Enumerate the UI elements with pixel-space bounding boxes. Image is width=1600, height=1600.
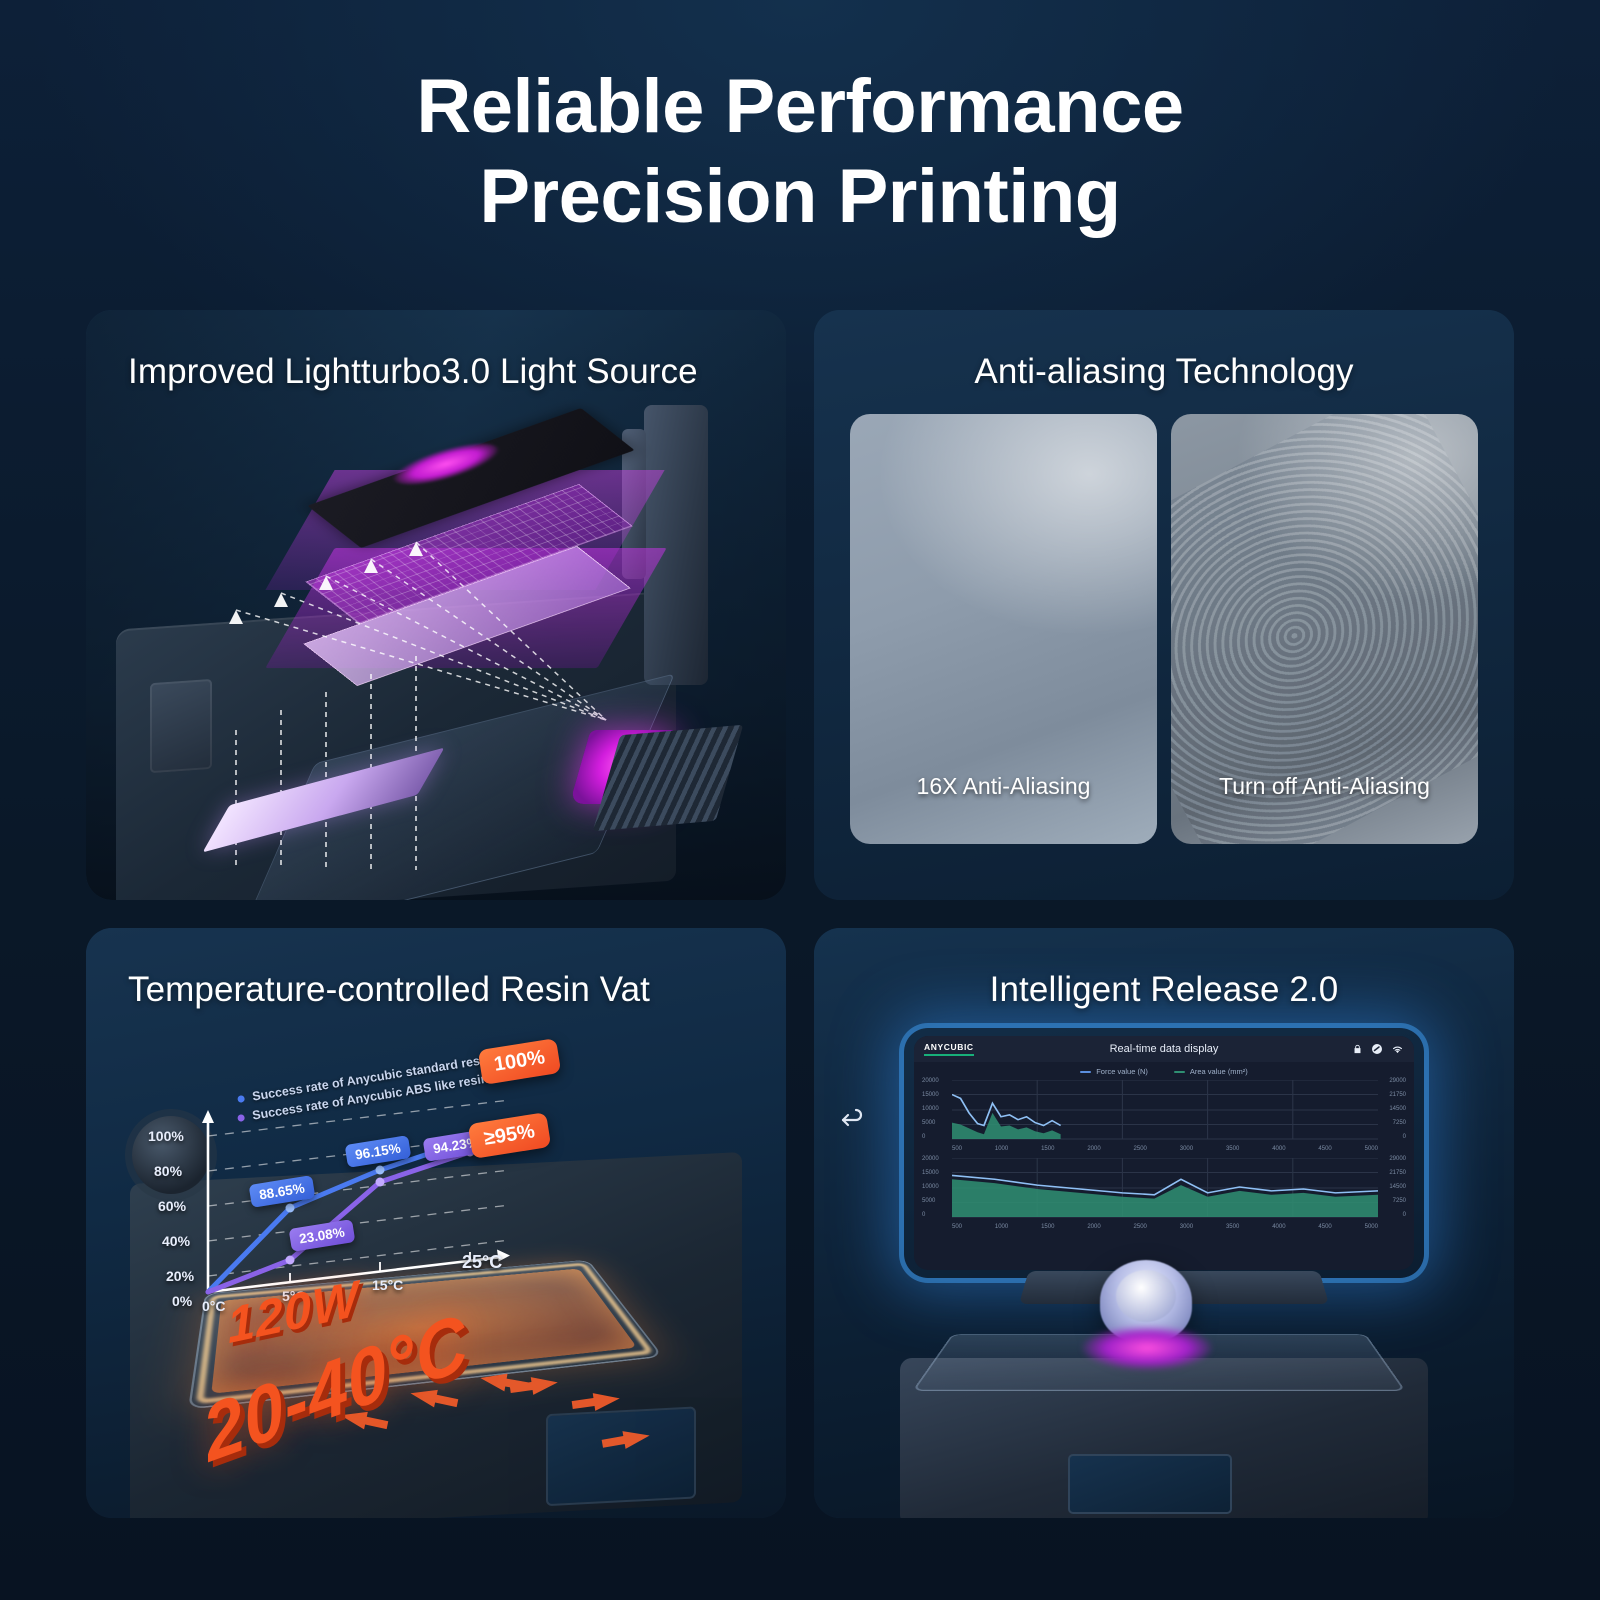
- screen-status-icons: [1352, 1043, 1404, 1055]
- lower-chart-left-axis: 20000 15000 10000 5000 0: [922, 1156, 939, 1218]
- card-light-source: Improved Lightturbo3.0 Light Source: [86, 310, 786, 900]
- upper-chart-right-axis: 29000 21750 14500 7250 0: [1389, 1078, 1406, 1140]
- ytick: 15000: [922, 1092, 939, 1098]
- light-source-scene: [86, 310, 786, 900]
- uv-exposure-glow: [1082, 1326, 1212, 1370]
- ytick: 0: [1403, 1212, 1406, 1218]
- xtick: 4000: [1272, 1146, 1285, 1152]
- anti-aliasing-comparison: 16X Anti-Aliasing Turn off Anti-Aliasing: [850, 414, 1478, 844]
- xtick: 2500: [1134, 1224, 1147, 1230]
- xtick: 2000: [1087, 1146, 1100, 1152]
- xtick: 1000: [995, 1224, 1008, 1230]
- xtick: 3500: [1226, 1146, 1239, 1152]
- ytick: 20000: [922, 1078, 939, 1084]
- sample-16x-anti-aliasing: 16X Anti-Aliasing: [850, 414, 1157, 844]
- upper-chart-x-axis: 500 1000 1500 2000 2500 3000 3500 4000 4…: [952, 1146, 1378, 1152]
- xtick: 1000: [995, 1146, 1008, 1152]
- ytick-60: 60%: [158, 1198, 186, 1214]
- xtick: 3000: [1180, 1224, 1193, 1230]
- ytick: 0: [922, 1134, 925, 1140]
- lower-chart-right-axis: 29000 21750 14500 7250 0: [1389, 1156, 1406, 1218]
- resin-success-rate-chart: Success rate of Anycubic standard resin …: [150, 1040, 570, 1320]
- ytick-40: 40%: [162, 1233, 190, 1249]
- back-arrow-icon: [840, 1107, 866, 1127]
- xtick: 2000: [1087, 1224, 1100, 1230]
- ytick: 21750: [1389, 1170, 1406, 1176]
- wifi-icon[interactable]: [1391, 1043, 1404, 1055]
- card-title-light-source: Improved Lightturbo3.0 Light Source: [86, 310, 786, 392]
- eye-off-icon[interactable]: [1371, 1043, 1383, 1055]
- screen-header-title: Real-time data display: [914, 1043, 1414, 1055]
- ytick: 21750: [1389, 1092, 1406, 1098]
- xtick: 5000: [1365, 1224, 1378, 1230]
- card-anti-aliasing: Anti-aliasing Technology 16X Anti-Aliasi…: [814, 310, 1514, 900]
- ytick: 10000: [922, 1184, 939, 1190]
- lock-icon[interactable]: [1352, 1043, 1363, 1055]
- card-title-anti-aliasing: Anti-aliasing Technology: [814, 310, 1514, 392]
- ytick: 10000: [922, 1106, 939, 1112]
- screen-chart-upper: 20000 15000 10000 5000 0 29000 21750 145…: [922, 1078, 1406, 1152]
- xtick: 500: [952, 1146, 962, 1152]
- ytick-100: 100%: [148, 1128, 184, 1144]
- ytick: 5000: [922, 1120, 935, 1126]
- upper-chart-canvas: [952, 1080, 1378, 1140]
- screen-chart-legend: Force value (N) Area value (mm²): [914, 1062, 1414, 1078]
- sample-anti-aliasing-off: Turn off Anti-Aliasing: [1171, 414, 1478, 844]
- ytick-80: 80%: [154, 1163, 182, 1179]
- legend-dot-icon: [237, 1094, 245, 1102]
- ytick: 7250: [1393, 1198, 1406, 1204]
- ytick: 5000: [922, 1198, 935, 1204]
- xtick: 4500: [1318, 1224, 1331, 1230]
- sample-label-off: Turn off Anti-Aliasing: [1171, 773, 1478, 800]
- printer-touchscreen: ANYCUBIC Real-time data display: [914, 1036, 1414, 1270]
- page-title-line-2: Precision Printing: [0, 152, 1600, 242]
- ytick: 14500: [1389, 1184, 1406, 1190]
- ytick: 15000: [922, 1170, 939, 1176]
- ytick: 29000: [1389, 1156, 1406, 1162]
- xtick: 1500: [1041, 1146, 1054, 1152]
- screen-topbar: ANYCUBIC Real-time data display: [914, 1036, 1414, 1062]
- xtick-0c: 0°C: [202, 1298, 226, 1314]
- legend-force-value: Force value (N): [1080, 1067, 1148, 1076]
- xtick: 4500: [1318, 1146, 1331, 1152]
- upper-chart-left-axis: 20000 15000 10000 5000 0: [922, 1078, 939, 1140]
- xtick: 1500: [1041, 1224, 1054, 1230]
- ytick: 0: [1403, 1134, 1406, 1140]
- sample-label-16x: 16X Anti-Aliasing: [850, 773, 1157, 800]
- page-title-line-1: Reliable Performance: [416, 64, 1183, 149]
- page-title: Reliable Performance Precision Printing: [0, 0, 1600, 241]
- ytick-20: 20%: [166, 1268, 194, 1284]
- legend-area-value: Area value (mm²): [1174, 1067, 1248, 1076]
- xtick: 3500: [1226, 1224, 1239, 1230]
- ytick: 29000: [1389, 1078, 1406, 1084]
- legend-force-label: Force value (N): [1096, 1067, 1148, 1076]
- ytick: 0: [922, 1212, 925, 1218]
- card-title-intelligent-release: Intelligent Release 2.0: [814, 928, 1514, 1010]
- chart-legend: Success rate of Anycubic standard resin …: [236, 1072, 492, 1110]
- xtick: 4000: [1272, 1224, 1285, 1230]
- intelligent-release-scene: ANYCUBIC Real-time data display: [814, 928, 1514, 1518]
- card-intelligent-release: Intelligent Release 2.0 ANYCUBIC Real-ti…: [814, 928, 1514, 1518]
- xtick: 5000: [1365, 1146, 1378, 1152]
- xtick-25c: 25°C: [462, 1252, 502, 1273]
- legend-area-label: Area value (mm²): [1190, 1067, 1248, 1076]
- ytick: 20000: [922, 1156, 939, 1162]
- card-title-resin-vat: Temperature-controlled Resin Vat: [86, 928, 786, 1010]
- ytick: 7250: [1393, 1120, 1406, 1126]
- xtick: 3000: [1180, 1146, 1193, 1152]
- screen-chart-lower: 20000 15000 10000 5000 0 29000 21750 145…: [922, 1156, 1406, 1230]
- screen-back-button[interactable]: [832, 1096, 874, 1138]
- lower-chart-canvas: [952, 1158, 1378, 1218]
- lower-chart-x-axis: 500 1000 1500 2000 2500 3000 3500 4000 4…: [952, 1224, 1378, 1230]
- ytick-0: 0%: [172, 1293, 192, 1309]
- xtick: 2500: [1134, 1146, 1147, 1152]
- xtick: 500: [952, 1224, 962, 1230]
- ytick: 14500: [1389, 1106, 1406, 1112]
- legend-dot-icon: [237, 1113, 245, 1121]
